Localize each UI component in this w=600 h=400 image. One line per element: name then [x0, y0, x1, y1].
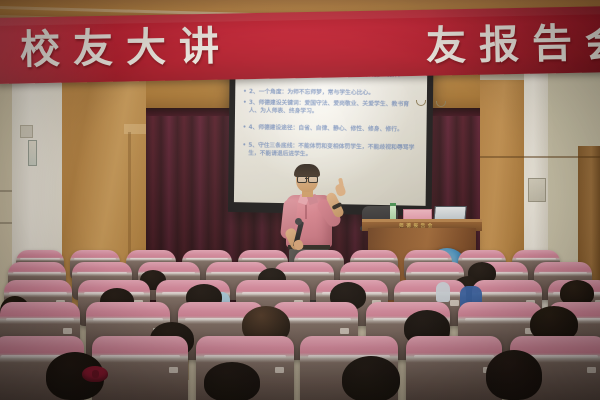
- hair-bow-knot: [92, 370, 99, 378]
- seat-number-plate: [275, 367, 284, 373]
- attendee-white-top: [436, 282, 450, 302]
- audience-seating: [0, 0, 600, 400]
- seat: [92, 336, 188, 400]
- auditorium-lecture-photo: 二、完善师德，作一个高尚的教师。 1、一个意识：师德是教师的第一财富，是学习的第…: [0, 0, 600, 400]
- attendee-head: [342, 356, 400, 400]
- seat-number-plate: [450, 300, 459, 306]
- seat-number-plate: [63, 328, 72, 334]
- attendee-head: [204, 362, 260, 400]
- seat-number-plate: [587, 367, 596, 373]
- seat-number-plate: [169, 367, 178, 373]
- seat-number-plate: [340, 328, 349, 334]
- attendee-head: [486, 350, 542, 400]
